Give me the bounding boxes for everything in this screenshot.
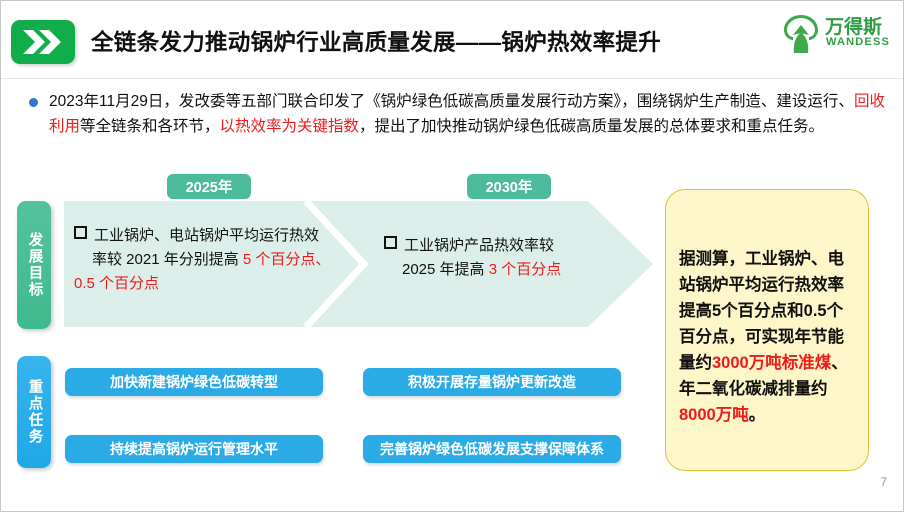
intro-text: 2023年11月29日，发改委等五部门联合印发了《锅炉绿色低碳高质量发展行动方案… <box>49 89 885 139</box>
task-pill-4[interactable]: 完善锅炉绿色低碳发展支撑保障体系 <box>363 435 621 463</box>
task-pill-3-label: 持续提高锅炉运行管理水平 <box>110 439 278 459</box>
header-divider <box>1 78 904 79</box>
task-pill-3[interactable]: 持续提高锅炉运行管理水平 <box>65 435 323 463</box>
brand-name-en: WANDESS <box>826 36 890 48</box>
stage-1-line-3-highlight: 0.5 个百分点 <box>74 272 339 296</box>
slide-canvas: 全链条发力推动锅炉行业高质量发展——锅炉热效率提升 万得斯 WANDESS 20… <box>0 0 904 512</box>
impact-callout-box: 据测算，工业锅炉、电站锅炉平均运行热效率提高5个百分点和0.5个百分点，可实现年… <box>665 189 869 471</box>
section-tab-key-tasks[interactable]: 重点任务 <box>17 356 51 468</box>
section-tab-development-goals[interactable]: 发展目标 <box>17 201 51 329</box>
page-title: 全链条发力推动锅炉行业高质量发展——锅炉热效率提升 <box>91 25 661 57</box>
text-segment-3: 以热效率为关键指数 <box>220 118 360 135</box>
stage-2-line-1: 工业锅炉产品热效率较 <box>404 237 554 254</box>
task-pill-4-label: 完善锅炉绿色低碳发展支撑保障体系 <box>380 439 604 459</box>
stage-2-line-2-highlight: 3 个百分点 <box>489 261 562 278</box>
year-badge-2030: 2030年 <box>467 174 551 199</box>
text-segment-4: 。 <box>749 406 766 424</box>
bullet-dot-icon <box>29 98 38 107</box>
stage-1-line-2-highlight: 5 个百分点、 <box>243 251 331 268</box>
timeline-arrow-band: 工业锅炉、电站锅炉平均运行热效 率较 2021 年分别提高 5 个百分点、 0.… <box>64 201 653 327</box>
square-bullet-icon <box>384 236 397 249</box>
impact-callout-text: 据测算，工业锅炉、电站锅炉平均运行热效率提高5个百分点和0.5个百分点，可实现年… <box>679 246 859 428</box>
slide-header: 全链条发力推动锅炉行业高质量发展——锅炉热效率提升 万得斯 WANDESS <box>1 1 904 79</box>
task-pill-2[interactable]: 积极开展存量锅炉更新改造 <box>363 368 621 396</box>
double-chevron-right-icon <box>11 20 75 64</box>
text-segment-1: 3000万吨标准煤 <box>712 354 831 372</box>
text-segment-0: 2023年11月29日，发改委等五部门联合印发了《锅炉绿色低碳高质量发展行动方案… <box>49 93 854 110</box>
year-badge-2025: 2025年 <box>167 174 251 199</box>
timeline-stage-2-text: 工业锅炉产品热效率较 2025 年提高 3 个百分点 <box>384 234 634 282</box>
timeline-stage-1-text: 工业锅炉、电站锅炉平均运行热效 率较 2021 年分别提高 5 个百分点、 0.… <box>74 224 339 296</box>
task-pill-2-label: 积极开展存量锅炉更新改造 <box>408 372 576 392</box>
square-bullet-icon <box>74 226 87 239</box>
text-segment-2: 等全链条和各环节， <box>80 118 220 135</box>
brand-logo: 万得斯 WANDESS <box>781 10 893 58</box>
task-pill-1-label: 加快新建锅炉绿色低碳转型 <box>110 372 278 392</box>
section-tab-goals-label: 发展目标 <box>25 232 44 298</box>
stage-1-line-2-plain: 率较 2021 年分别提高 <box>92 251 243 268</box>
text-segment-3: 8000万吨 <box>679 406 749 424</box>
stage-2-line-2-plain: 2025 年提高 <box>402 261 489 278</box>
brand-name-cn: 万得斯 <box>825 12 882 39</box>
section-tab-tasks-label: 重点任务 <box>25 379 44 445</box>
page-number: 7 <box>880 475 887 489</box>
wandess-leaf-logo-icon <box>781 13 821 60</box>
intro-paragraph: 2023年11月29日，发改委等五部门联合印发了《锅炉绿色低碳高质量发展行动方案… <box>29 89 885 139</box>
text-segment-4: ，提出了加快推动锅炉绿色低碳高质量发展的总体要求和重点任务。 <box>359 118 824 135</box>
stage-1-line-1: 工业锅炉、电站锅炉平均运行热效 <box>94 227 319 244</box>
task-pill-1[interactable]: 加快新建锅炉绿色低碳转型 <box>65 368 323 396</box>
